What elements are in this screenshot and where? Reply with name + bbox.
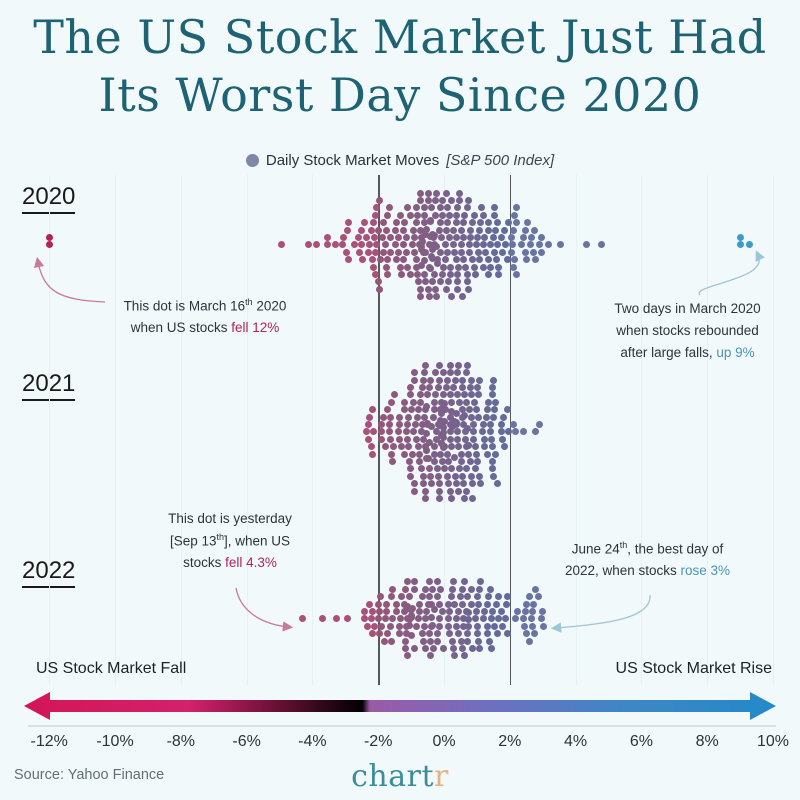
swarm-dot — [380, 249, 387, 256]
swarm-dot — [464, 362, 471, 369]
annotation-june-24-2022: June 24th, the best day of 2022, when st… — [540, 538, 755, 582]
swarm-dot — [498, 608, 505, 615]
swarm-dot — [450, 578, 457, 585]
swarm-dot — [475, 249, 482, 256]
swarm-dot — [469, 480, 476, 487]
swarm-dot — [529, 608, 536, 615]
swarm-dot — [467, 458, 474, 465]
swarm-dot — [366, 241, 373, 248]
swarm-dot — [484, 630, 491, 637]
swarm-dot — [387, 623, 394, 630]
swarm-dot — [432, 391, 439, 398]
swarm-dot — [443, 190, 450, 197]
swarm-dot — [417, 190, 424, 197]
swarm-dot — [410, 399, 417, 406]
swarm-dot — [403, 428, 410, 435]
swarm-dot — [460, 256, 467, 263]
swarm-dot — [526, 638, 533, 645]
swarm-dot — [401, 406, 408, 413]
axis-tick-10pct: 10% — [757, 733, 789, 751]
swarm-dot — [333, 615, 340, 622]
swarm-dot — [460, 219, 467, 226]
swarm-dot — [485, 227, 492, 234]
swarm-dot — [444, 377, 451, 384]
swarm-dot — [380, 414, 387, 421]
swarm-dot — [526, 593, 533, 600]
swarm-dot — [439, 197, 446, 204]
swarm-dot — [405, 414, 412, 421]
swarm-dot — [402, 586, 409, 593]
swarm-dot — [455, 443, 462, 450]
swarm-dot — [379, 234, 386, 241]
swarm-dot — [405, 443, 412, 450]
swarm-dot — [427, 377, 434, 384]
swarm-dot — [456, 197, 463, 204]
beeswarm-plot-area — [0, 175, 800, 685]
swarm-dot — [481, 234, 488, 241]
swarm-dot — [436, 495, 443, 502]
swarm-dot — [426, 578, 433, 585]
swarm-dot — [475, 414, 482, 421]
swarm-dot — [407, 384, 414, 391]
swarm-dot — [299, 615, 306, 622]
swarm-dot — [411, 578, 418, 585]
swarm-dot — [489, 465, 496, 472]
swarm-dot — [370, 264, 377, 271]
swarm-dot — [459, 645, 466, 652]
swarm-dot — [324, 234, 331, 241]
swarm-dot — [418, 465, 425, 472]
legend-label: Daily Stock Market Moves — [266, 152, 439, 169]
swarm-dot — [372, 212, 379, 219]
swarm-dot — [420, 638, 427, 645]
swarm-dot — [459, 601, 466, 608]
chartr-logo: chartr — [0, 759, 800, 794]
swarm-dot — [465, 609, 472, 616]
swarm-dot — [368, 615, 375, 622]
swarm-dot — [419, 593, 426, 600]
annotation-yesterday-line2: [Sep 13th], when US — [150, 530, 310, 552]
swarm-dot — [447, 488, 454, 495]
swarm-dot — [495, 264, 502, 271]
swarm-dot — [474, 593, 481, 600]
page-title-line1: The US Stock Market Just Had — [0, 14, 800, 60]
swarm-dot — [424, 391, 431, 398]
swarm-dot — [457, 593, 464, 600]
swarm-dot — [539, 608, 546, 615]
swarm-dot — [531, 630, 538, 637]
swarm-dot — [488, 615, 495, 622]
swarm-dot — [439, 212, 446, 219]
swarm-dot — [446, 608, 453, 615]
swarm-dot — [423, 430, 430, 437]
swarm-dot — [473, 608, 480, 615]
swarm-dot — [382, 615, 389, 622]
swarm-dot — [396, 623, 403, 630]
swarm-dot — [454, 286, 461, 293]
swarm-dot — [459, 377, 466, 384]
swarm-dot — [392, 227, 399, 234]
swarm-dot — [451, 249, 458, 256]
swarm-dot — [451, 454, 458, 461]
swarm-dot — [408, 632, 415, 639]
swarm-dot — [417, 391, 424, 398]
swarm-dot — [414, 414, 421, 421]
swarm-dot — [369, 451, 376, 458]
swarm-dot — [538, 234, 545, 241]
swarm-dot — [413, 436, 420, 443]
swarm-dot — [474, 384, 481, 391]
swarm-dot — [365, 249, 372, 256]
swarm-dot — [472, 271, 479, 278]
swarm-dot — [447, 271, 454, 278]
swarm-dot — [396, 436, 403, 443]
swarm-dot — [504, 406, 511, 413]
swarm-dot — [480, 212, 487, 219]
swarm-dot — [491, 623, 498, 630]
swarm-dot — [411, 586, 418, 593]
swarm-dot — [409, 605, 416, 612]
swarm-dot — [504, 593, 511, 600]
swarm-dot — [437, 204, 444, 211]
swarm-dot — [467, 227, 474, 234]
swarm-dot — [499, 623, 506, 630]
swarm-dot — [484, 601, 491, 608]
swarm-dot — [481, 608, 488, 615]
swarm-dot — [402, 638, 409, 645]
swarm-dot — [454, 436, 461, 443]
swarm-dot — [404, 436, 411, 443]
swarm-dot — [361, 608, 368, 615]
swarm-dot — [432, 286, 439, 293]
swarm-dot — [46, 234, 53, 241]
swarm-dot — [484, 406, 491, 413]
swarm-dot — [487, 586, 494, 593]
swarm-dot — [397, 212, 404, 219]
swarm-dot — [513, 204, 520, 211]
chart-legend: Daily Stock Market Moves [S&P 500 Index] — [0, 152, 800, 169]
swarm-dot — [410, 227, 417, 234]
swarm-dot — [361, 219, 368, 226]
swarm-dot — [490, 377, 497, 384]
swarm-dot — [486, 638, 493, 645]
swarm-dot — [491, 249, 498, 256]
swarm-dot — [540, 623, 547, 630]
swarm-dot — [378, 421, 385, 428]
swarm-dot — [513, 219, 520, 226]
swarm-dot — [480, 421, 487, 428]
swarm-dot — [370, 428, 377, 435]
swarm-dot — [465, 197, 472, 204]
swarm-dot — [383, 264, 390, 271]
swarm-dot — [422, 645, 429, 652]
swarm-dot — [436, 480, 443, 487]
swarm-dot — [428, 204, 435, 211]
swarm-dot — [494, 241, 501, 248]
swarm-dot — [373, 241, 380, 248]
swarm-dot — [475, 601, 482, 608]
swarm-dot — [512, 428, 519, 435]
swarm-dot — [46, 241, 53, 248]
swarm-dot — [453, 212, 460, 219]
swarm-dot — [502, 615, 509, 622]
swarm-dot — [453, 623, 460, 630]
swarm-dot — [413, 219, 420, 226]
swarm-dot — [445, 615, 452, 622]
swarm-dot — [436, 227, 443, 234]
swarm-dot — [384, 271, 391, 278]
swarm-dot — [432, 212, 439, 219]
swarm-dot — [415, 406, 422, 413]
axis-tick-4pct: 4% — [564, 733, 587, 751]
swarm-dot — [487, 428, 494, 435]
swarm-dot — [439, 271, 446, 278]
swarm-dot — [500, 414, 507, 421]
swarm-dot — [483, 414, 490, 421]
swarm-dot — [446, 212, 453, 219]
swarm-dot — [426, 593, 433, 600]
swarm-dot — [440, 645, 447, 652]
swarm-dot — [474, 458, 481, 465]
swarm-dot — [407, 473, 414, 480]
swarm-dot — [389, 586, 396, 593]
swarm-dot — [369, 630, 376, 637]
swarm-dot — [485, 593, 492, 600]
swarm-dot — [406, 593, 413, 600]
swarm-dot — [408, 406, 415, 413]
annotation-june24-line1: June 24th, the best day of — [540, 538, 755, 560]
swarm-dot — [401, 451, 408, 458]
swarm-dot — [448, 293, 455, 300]
swarm-dot — [389, 615, 396, 622]
swarm-dot — [454, 278, 461, 285]
swarm-dot — [493, 256, 500, 263]
swarm-dot — [463, 465, 470, 472]
swarm-dot — [363, 234, 370, 241]
swarm-row-2021 — [0, 372, 800, 492]
swarm-dot — [487, 241, 494, 248]
swarm-dot — [454, 428, 461, 435]
swarm-dot — [459, 586, 466, 593]
swarm-dot — [454, 204, 461, 211]
annotation-yesterday-line3: stocks fell 4.3% — [150, 552, 310, 574]
swarm-dot — [489, 443, 496, 450]
swarm-dot — [433, 293, 440, 300]
swarm-dot — [476, 645, 483, 652]
swarm-dot — [502, 241, 509, 248]
swarm-dot — [444, 204, 451, 211]
swarm-dot — [536, 421, 543, 428]
swarm-dot — [420, 377, 427, 384]
swarm-dot — [440, 369, 447, 376]
swarm-dot — [432, 369, 439, 376]
swarm-dot — [375, 601, 382, 608]
swarm-dot — [434, 593, 441, 600]
swarm-dot — [411, 369, 418, 376]
swarm-dot — [583, 241, 590, 248]
swarm-dot — [448, 465, 455, 472]
swarm-dot — [737, 241, 744, 248]
swarm-dot — [370, 219, 377, 226]
swarm-dot — [456, 399, 463, 406]
swarm-dot — [423, 447, 430, 454]
swarm-dot — [471, 264, 478, 271]
axis-label-fall: US Stock Market Fall — [36, 660, 186, 678]
swarm-dot — [422, 495, 429, 502]
swarm-dot — [523, 601, 530, 608]
swarm-dot — [458, 458, 465, 465]
swarm-dot — [356, 249, 363, 256]
swarm-dot — [430, 645, 437, 652]
swarm-dot — [493, 601, 500, 608]
swarm-dot — [466, 241, 473, 248]
swarm-dot — [487, 421, 494, 428]
swarm-dot — [411, 480, 418, 487]
swarm-dot — [403, 234, 410, 241]
direction-gradient-arrow — [24, 689, 776, 723]
annotation-rebound-2020: Two days in March 2020 when stocks rebou… — [585, 298, 790, 364]
swarm-dot — [369, 406, 376, 413]
swarm-dot — [439, 608, 446, 615]
swarm-dot — [411, 645, 418, 652]
swarm-dot — [428, 614, 435, 621]
swarm-dot — [454, 271, 461, 278]
swarm-dot — [429, 622, 436, 629]
swarm-dot — [378, 428, 385, 435]
chartr-logo-part2: r — [434, 759, 449, 794]
swarm-dot — [452, 473, 459, 480]
swarm-dot — [431, 458, 438, 465]
swarm-dot — [477, 578, 484, 585]
swarm-dot — [413, 204, 420, 211]
swarm-dot — [453, 615, 460, 622]
swarm-dot — [505, 219, 512, 226]
swarm-dot — [443, 286, 450, 293]
swarm-dot — [490, 234, 497, 241]
swarm-dot — [411, 488, 418, 495]
swarm-dot — [384, 212, 391, 219]
swarm-dot — [404, 204, 411, 211]
swarm-dot — [480, 615, 487, 622]
swarm-dot — [465, 286, 472, 293]
swarm-dot — [437, 249, 444, 256]
swarm-dot — [448, 593, 455, 600]
swarm-dot — [401, 399, 408, 406]
swarm-dot — [408, 614, 415, 621]
swarm-dot — [455, 608, 462, 615]
axis-tick-neg12pct: -12% — [31, 733, 68, 751]
swarm-dot — [448, 399, 455, 406]
swarm-dot — [437, 278, 444, 285]
swarm-dot — [444, 473, 451, 480]
swarm-dot — [464, 271, 471, 278]
swarm-dot — [465, 451, 472, 458]
swarm-dot — [383, 601, 390, 608]
swarm-dot — [415, 278, 422, 285]
swarm-dot — [447, 391, 454, 398]
swarm-dot — [395, 249, 402, 256]
swarm-dot — [513, 271, 520, 278]
swarm-dot — [409, 451, 416, 458]
swarm-dot — [471, 399, 478, 406]
swarm-dot — [278, 241, 285, 248]
swarm-dot — [532, 428, 539, 435]
swarm-dot — [455, 488, 462, 495]
annotation-rebound-line1: Two days in March 2020 — [585, 298, 790, 320]
swarm-dot — [489, 391, 496, 398]
swarm-dot — [440, 391, 447, 398]
swarm-dot — [527, 241, 534, 248]
swarm-dot — [376, 286, 383, 293]
swarm-dot — [469, 645, 476, 652]
swarm-dot — [369, 608, 376, 615]
swarm-dot — [458, 249, 465, 256]
swarm-dot — [474, 623, 481, 630]
swarm-dot — [426, 384, 433, 391]
swarm-dot — [427, 638, 434, 645]
swarm-dot — [422, 488, 429, 495]
swarm-dot — [412, 421, 419, 428]
swarm-dot — [305, 241, 312, 248]
swarm-dot — [454, 369, 461, 376]
chartr-logo-part1: chart — [351, 759, 434, 794]
swarm-dot — [475, 391, 482, 398]
swarm-dot — [422, 362, 429, 369]
swarm-dot — [395, 428, 402, 435]
swarm-dot — [450, 241, 457, 248]
swarm-dot — [444, 219, 451, 226]
axis-tick-neg8pct: -8% — [167, 733, 195, 751]
annotation-march16-line2: when US stocks fell 12% — [100, 317, 310, 339]
swarm-dot — [472, 615, 479, 622]
swarm-dot — [480, 241, 487, 248]
swarm-dot — [437, 451, 444, 458]
swarm-dot — [407, 271, 414, 278]
swarm-dot — [414, 212, 421, 219]
swarm-dot — [453, 480, 460, 487]
swarm-dot — [443, 384, 450, 391]
swarm-dot — [442, 256, 449, 263]
swarm-dot — [461, 495, 468, 502]
swarm-dot — [494, 219, 501, 226]
swarm-dot — [450, 384, 457, 391]
swarm-dot — [508, 249, 515, 256]
swarm-dot — [421, 257, 428, 264]
swarm-dot — [481, 443, 488, 450]
swarm-dot — [453, 219, 460, 226]
axis-label-rise: US Stock Market Rise — [616, 660, 772, 678]
swarm-dot — [375, 615, 382, 622]
swarm-dot — [376, 630, 383, 637]
swarm-dot — [520, 428, 527, 435]
swarm-dot — [369, 256, 376, 263]
infographic-canvas: The US Stock Market Just Had Its Worst D… — [0, 0, 800, 800]
swarm-dot — [495, 615, 502, 622]
swarm-dot — [557, 241, 564, 248]
swarm-dot — [358, 241, 365, 248]
swarm-dot — [396, 630, 403, 637]
swarm-dot — [388, 593, 395, 600]
swarm-dot — [466, 249, 473, 256]
swarm-dot — [443, 227, 450, 234]
swarm-dot — [461, 578, 468, 585]
swarm-dot — [407, 465, 414, 472]
swarm-dot — [528, 615, 535, 622]
swarm-dot — [472, 443, 479, 450]
axis-tick-0pct: 0% — [432, 733, 455, 751]
swarm-dot — [453, 421, 460, 428]
swarm-dot — [523, 630, 530, 637]
